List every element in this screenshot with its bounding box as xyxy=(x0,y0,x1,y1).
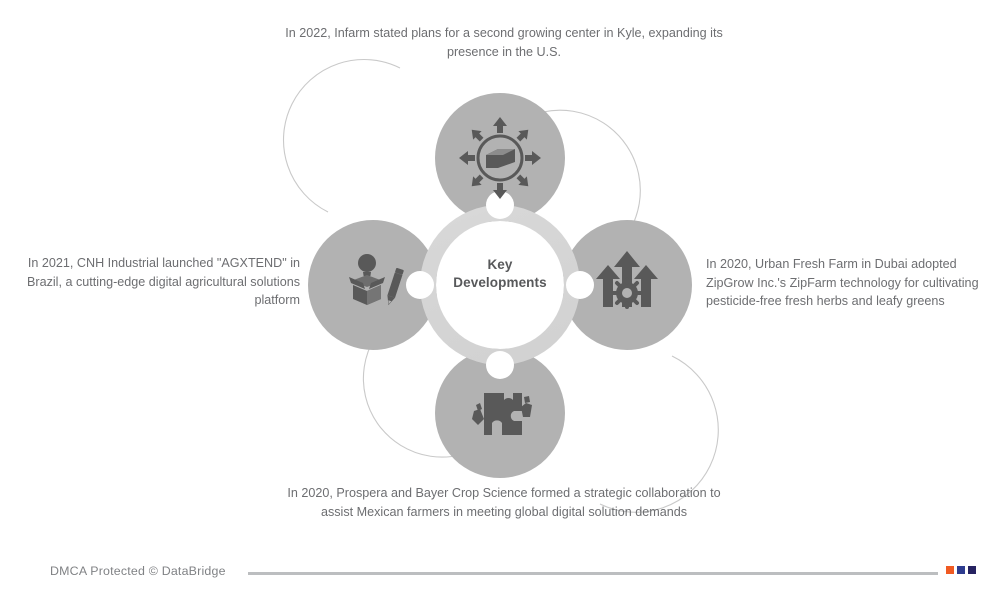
caption-bottom: In 2020, Prospera and Bayer Crop Science… xyxy=(276,484,732,521)
swatch-orange xyxy=(946,566,954,574)
diagram-canvas xyxy=(300,80,700,480)
connector-dot-right[interactable] xyxy=(566,271,594,299)
caption-top: In 2022, Infarm stated plans for a secon… xyxy=(276,24,732,61)
swatch-blue xyxy=(957,566,965,574)
footer-copyright: DMCA Protected © DataBridge xyxy=(50,564,226,578)
caption-right: In 2020, Urban Fresh Farm in Dubai adopt… xyxy=(706,255,1002,311)
footer: DMCA Protected © DataBridge xyxy=(0,556,1008,600)
infographic-root: Key Developments In 2022, Infarm stated … xyxy=(0,0,1008,600)
footer-swatches xyxy=(946,566,976,574)
caption-left: In 2021, CNH Industrial launched "AGXTEN… xyxy=(8,254,300,310)
footer-divider xyxy=(248,572,938,575)
connector-dot-left[interactable] xyxy=(406,271,434,299)
key-developments-diagram: Key Developments xyxy=(300,80,700,480)
swatch-navy xyxy=(968,566,976,574)
connector-dot-bottom[interactable] xyxy=(486,351,514,379)
